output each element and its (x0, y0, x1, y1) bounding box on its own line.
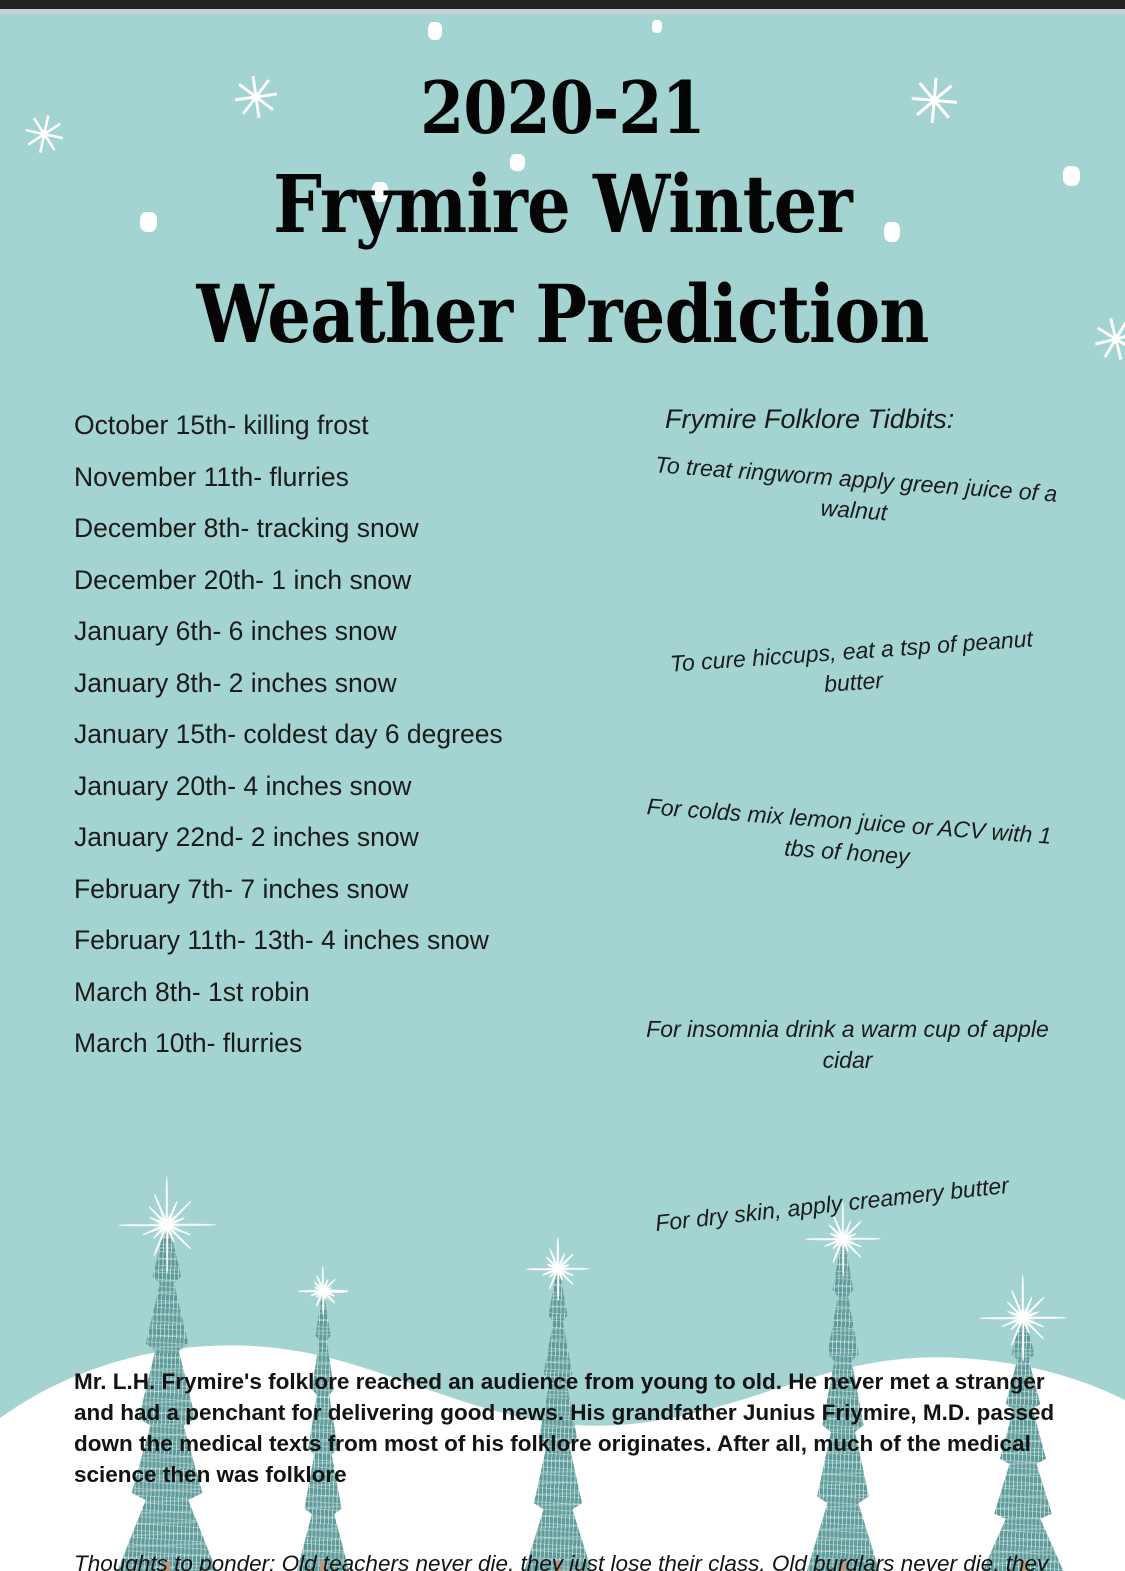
tidbit-ringworm: To treat ringworm apply green juice of a… (648, 449, 1061, 541)
tidbits-heading: Frymire Folklore Tidbits: (665, 404, 954, 435)
snow-speck-icon (428, 22, 442, 40)
prediction-list: October 15th- killing frost November 11t… (74, 400, 634, 1070)
tidbit-hiccups: To cure hiccups, eat a tsp of peanut but… (653, 622, 1051, 711)
list-item: February 7th- 7 inches snow (74, 864, 634, 916)
list-item: November 11th- flurries (74, 452, 634, 504)
winter-weather-prediction-poster: ✳✳✳✳ 2020-21 Frymire Winter Weather Pred… (0, 0, 1125, 1571)
tidbit-colds: For colds mix lemon juice or ACV with 1 … (636, 791, 1059, 884)
list-item: January 15th- coldest day 6 degrees (74, 709, 634, 761)
list-item: December 8th- tracking snow (74, 503, 634, 555)
tidbit-dry-skin: For dry skin, apply creamery butter (636, 1168, 1027, 1241)
list-item: January 6th- 6 inches snow (74, 606, 634, 658)
poster-background: ✳✳✳✳ 2020-21 Frymire Winter Weather Pred… (0, 14, 1125, 1571)
biography-paragraph: Mr. L.H. Frymire's folklore reached an a… (74, 1366, 1064, 1490)
tidbit-insomnia: For insomnia drink a warm cup of apple c… (640, 1014, 1055, 1076)
snow-speck-icon (652, 20, 662, 33)
list-item: January 8th- 2 inches snow (74, 658, 634, 710)
title-sub: Weather Prediction (79, 262, 1047, 366)
thoughts-paragraph: Thoughts to ponder: Old teachers never d… (74, 1548, 1064, 1571)
list-item: January 20th- 4 inches snow (74, 761, 634, 813)
list-item: December 20th- 1 inch snow (74, 555, 634, 607)
page-title: 2020-21 Frymire Winter Weather Predictio… (0, 70, 1125, 366)
footer-text-block: Mr. L.H. Frymire's folklore reached an a… (74, 1366, 1064, 1571)
list-item: January 22nd- 2 inches snow (74, 812, 634, 864)
browser-top-bar (0, 0, 1125, 9)
title-year: 2020-21 (68, 70, 1058, 146)
list-item: February 11th- 13th- 4 inches snow (74, 915, 634, 967)
title-main: Frymire Winter (79, 146, 1047, 262)
list-item: March 8th- 1st robin (74, 967, 634, 1019)
list-item: October 15th- killing frost (74, 400, 634, 452)
list-item: March 10th- flurries (74, 1018, 634, 1070)
